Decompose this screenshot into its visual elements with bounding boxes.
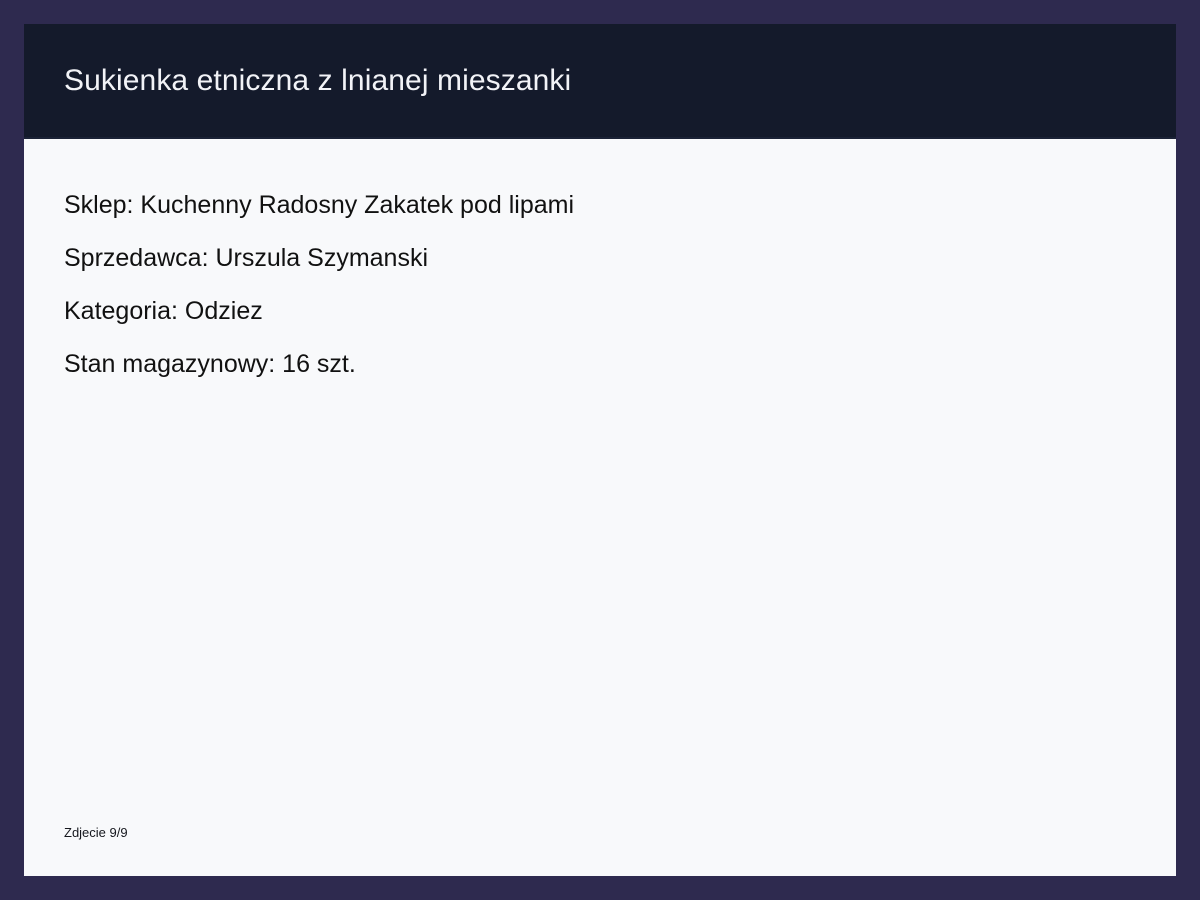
photo-counter-label: Zdjecie 9/9 bbox=[64, 825, 128, 840]
slide-card: Sukienka etniczna z lnianej mieszanki Sk… bbox=[24, 24, 1176, 876]
slide-body: Sklep: Kuchenny Radosny Zakatek pod lipa… bbox=[24, 139, 1176, 876]
detail-line-kategoria: Kategoria: Odziez bbox=[64, 285, 1136, 338]
slide-footer: Zdjecie 9/9 bbox=[64, 824, 128, 842]
detail-line-stan-magazynowy: Stan magazynowy: 16 szt. bbox=[64, 338, 1136, 391]
page-title: Sukienka etniczna z lnianej mieszanki bbox=[64, 63, 571, 99]
detail-line-sprzedawca: Sprzedawca: Urszula Szymanski bbox=[64, 232, 1136, 285]
product-detail-list: Sklep: Kuchenny Radosny Zakatek pod lipa… bbox=[64, 179, 1136, 391]
detail-line-sklep: Sklep: Kuchenny Radosny Zakatek pod lipa… bbox=[64, 179, 1136, 232]
slide-header: Sukienka etniczna z lnianej mieszanki bbox=[24, 24, 1176, 139]
